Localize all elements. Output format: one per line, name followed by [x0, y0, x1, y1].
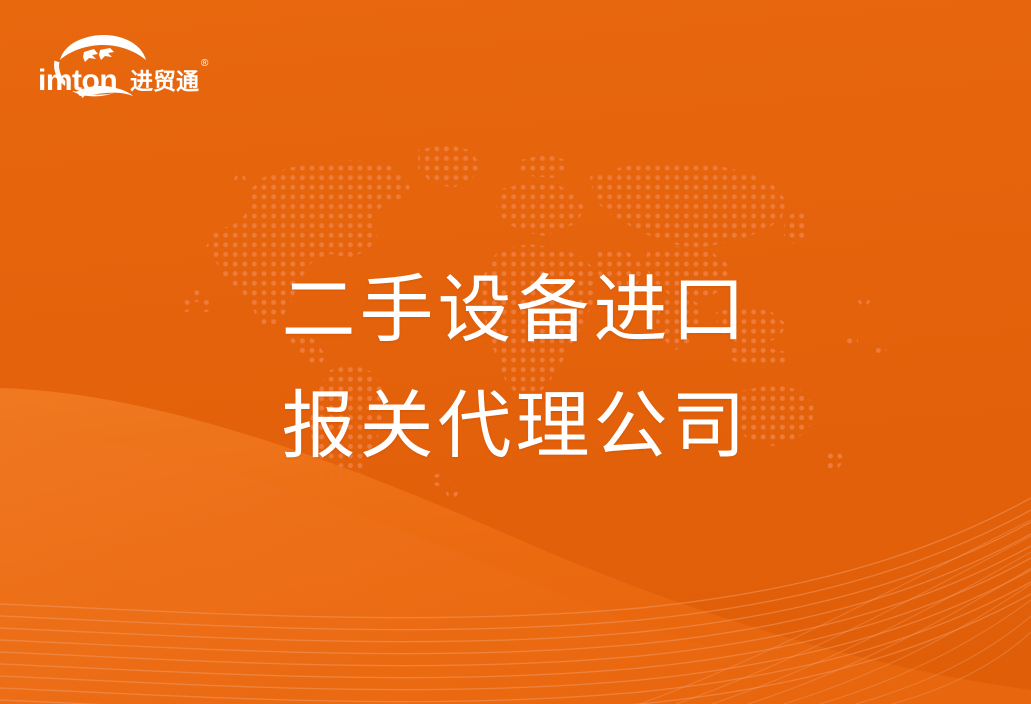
logo-wordmark: imton	[38, 64, 117, 97]
promo-banner: imton 进贸通 ® 二手设备进口 报关代理公司	[0, 0, 1031, 704]
headline-line-2: 报关代理公司	[0, 368, 1031, 484]
headline: 二手设备进口 报关代理公司	[0, 252, 1031, 484]
logo-chinese-name: 进贸通	[130, 68, 199, 94]
logo-trademark-symbol: ®	[201, 58, 209, 69]
company-logo[interactable]: imton 进贸通 ®	[38, 32, 216, 104]
headline-line-1: 二手设备进口	[0, 252, 1031, 368]
